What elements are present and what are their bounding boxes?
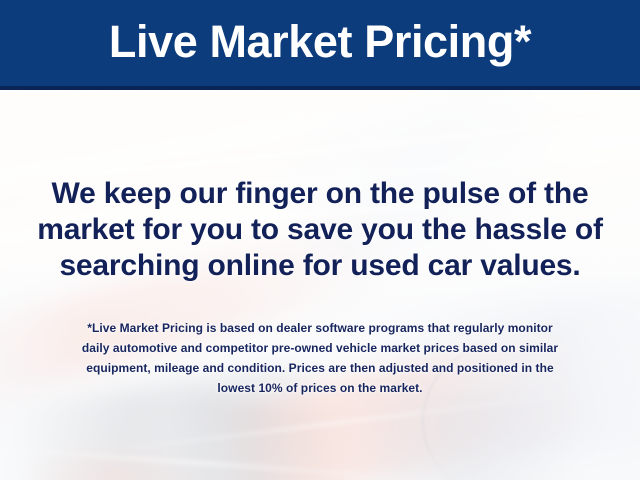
headline-line-2: market for you to save you the hassle of bbox=[0, 212, 640, 248]
headline-line-3: searching online for used car values. bbox=[0, 248, 640, 284]
disclaimer-line-2: daily automotive and competitor pre-owne… bbox=[0, 338, 640, 358]
disclaimer-line-3: equipment, mileage and condition. Prices… bbox=[0, 358, 640, 378]
disclaimer-line-4: lowest 10% of prices on the market. bbox=[0, 378, 640, 398]
headline-block: We keep our finger on the pulse of the m… bbox=[0, 176, 640, 284]
header-banner: Live Market Pricing* bbox=[0, 0, 640, 90]
live-market-pricing-slide: Live Market Pricing* We keep our finger … bbox=[0, 0, 640, 480]
disclaimer-block: *Live Market Pricing is based on dealer … bbox=[0, 318, 640, 398]
page-title: Live Market Pricing* bbox=[109, 19, 531, 68]
disclaimer-line-1: *Live Market Pricing is based on dealer … bbox=[0, 318, 640, 338]
headline-line-1: We keep our finger on the pulse of the bbox=[0, 176, 640, 212]
